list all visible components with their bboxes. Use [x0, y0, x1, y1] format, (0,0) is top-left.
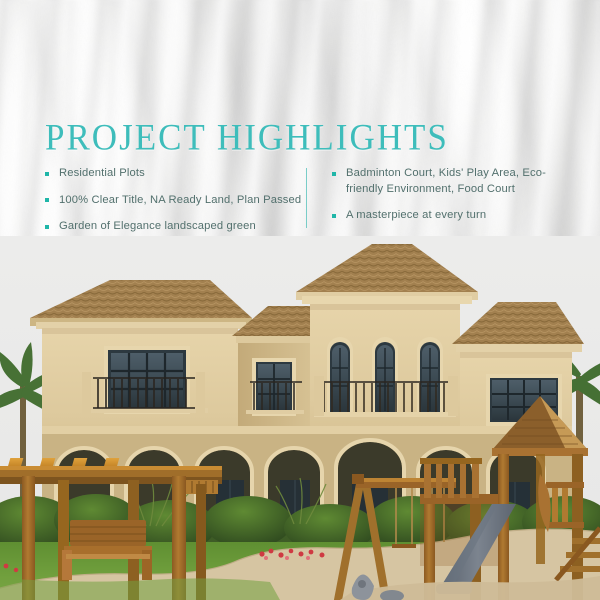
list-item: A masterpiece at every turn — [332, 208, 582, 224]
list-item-label: A masterpiece at every turn — [346, 209, 486, 221]
list-item-label: Badminton Court, Kids' Play Area, Eco-fr… — [346, 167, 546, 195]
villa-photo — [0, 236, 600, 600]
window-midleft-upper — [252, 358, 296, 416]
bullet-square-icon — [45, 225, 49, 229]
list-item: Garden of Elegance landscaped green — [45, 219, 303, 235]
highlights-right-column: Badminton Court, Kids' Play Area, Eco-fr… — [332, 166, 582, 235]
highlights-left-column: Residential Plots 100% Clear Title, NA R… — [45, 166, 303, 246]
bullet-square-icon — [45, 198, 49, 202]
list-item-label: Residential Plots — [59, 167, 145, 179]
arched-windows-center — [327, 337, 443, 416]
window-left-upper — [104, 346, 190, 414]
bullet-square-icon — [45, 172, 49, 176]
page-title: PROJECT HIGHLIGHTS — [45, 119, 449, 157]
list-item: Badminton Court, Kids' Play Area, Eco-fr… — [332, 166, 582, 197]
poster-canvas: PROJECT HIGHLIGHTS Residential Plots 100… — [0, 0, 600, 600]
bullet-square-icon — [332, 214, 336, 218]
list-item-label: 100% Clear Title, NA Ready Land, Plan Pa… — [59, 194, 301, 206]
column-divider — [306, 168, 307, 228]
villa-illustration — [0, 236, 600, 600]
bullet-square-icon — [332, 172, 336, 176]
list-item: 100% Clear Title, NA Ready Land, Plan Pa… — [45, 193, 303, 209]
list-item-label: Garden of Elegance landscaped green — [59, 220, 256, 232]
list-item: Residential Plots — [45, 166, 303, 182]
